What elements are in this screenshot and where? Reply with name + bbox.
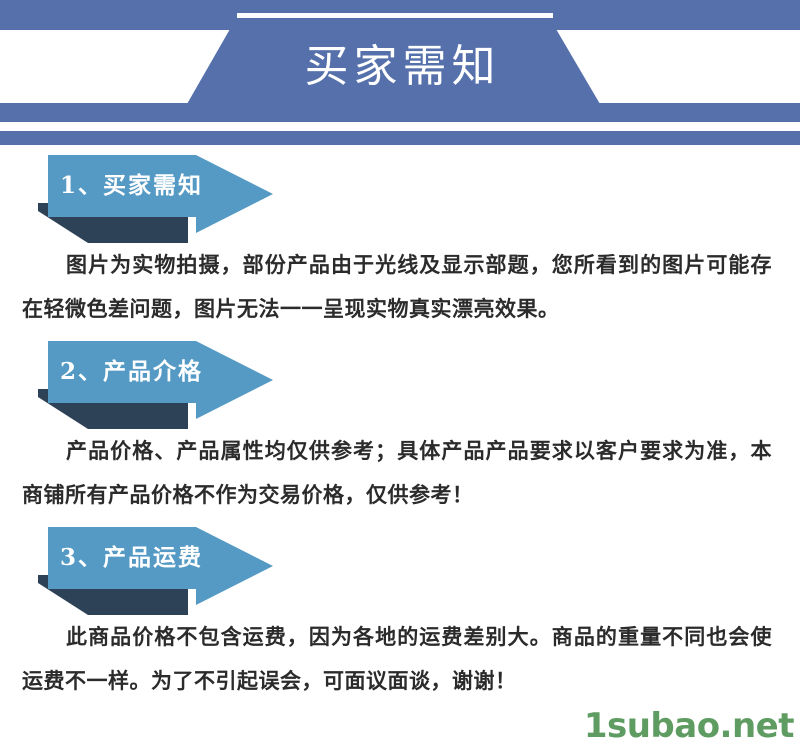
page-title: 买家需知: [0, 30, 800, 104]
section-3-paragraph: 此商品价格不包含运费，因为各地的运费差别大。商品的重量不同也会使运费不一样。为了…: [22, 615, 772, 703]
notice-section-2: 2、产品介格 产品价格、产品属性均仅供参考；具体产品产品要求以客户要求为准，本商…: [0, 331, 800, 517]
site-watermark: 1subao.net: [584, 706, 794, 746]
section-1-arrow-heading: 1、买家需知: [38, 145, 288, 243]
notice-section-1: 1、买家需知 图片为实物拍摄，部份产品由于光线及显示部题，您所看到的图片可能存在…: [0, 145, 800, 331]
section-1-paragraph: 图片为实物拍摄，部份产品由于光线及显示部题，您所看到的图片可能存在轻微色差问题，…: [22, 243, 772, 331]
section-3-arrow-heading: 3、产品运费: [38, 517, 288, 615]
section-2-arrow-heading: 2、产品介格: [38, 331, 288, 429]
header-top-bar-white-line: [237, 13, 553, 18]
notice-section-3: 3、产品运费 此商品价格不包含运费，因为各地的运费差别大。商品的重量不同也会使运…: [0, 517, 800, 703]
page-header-banner: 买家需知: [0, 0, 800, 145]
section-2-paragraph: 产品价格、产品属性均仅供参考；具体产品产品要求以客户要求为准，本商铺所有产品价格…: [22, 429, 772, 517]
section-1-heading-label: 1、买家需知: [60, 155, 240, 217]
header-bottom-bar: [0, 131, 800, 145]
header-middle-bar: [0, 103, 800, 122]
header-top-bar: [0, 0, 800, 30]
section-3-heading-label: 3、产品运费: [60, 527, 240, 589]
notice-content: 1、买家需知 图片为实物拍摄，部份产品由于光线及显示部题，您所看到的图片可能存在…: [0, 145, 800, 703]
section-2-heading-label: 2、产品介格: [60, 341, 240, 403]
